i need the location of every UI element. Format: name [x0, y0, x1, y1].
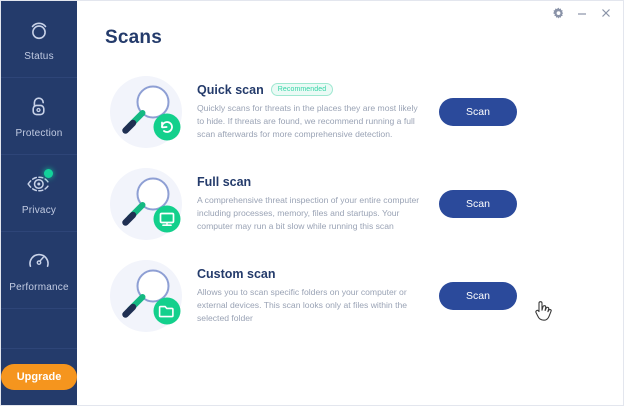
- scan-action-quick: Scan: [439, 98, 565, 126]
- scan-name-full: Full scan: [197, 175, 251, 189]
- scan-row-custom: Custom scan Allows you to scan specific …: [105, 250, 605, 342]
- sidebar-item-label-protection: Protection: [15, 128, 62, 139]
- status-badge-recommended: Recommended: [271, 83, 334, 96]
- sidebar-item-status[interactable]: Status: [1, 1, 77, 78]
- sidebar-item-label-privacy: Privacy: [22, 205, 56, 216]
- speedometer-icon: [25, 247, 53, 275]
- scan-list: Quick scan Recommended Quickly scans for…: [105, 66, 605, 342]
- sidebar-spacer: [1, 309, 77, 349]
- scan-text-full: Full scan A comprehensive threat inspect…: [197, 175, 439, 234]
- scan-text-quick: Quick scan Recommended Quickly scans for…: [197, 83, 439, 142]
- scan-button-full[interactable]: Scan: [439, 190, 517, 218]
- scan-row-full: Full scan A comprehensive threat inspect…: [105, 158, 605, 250]
- application-window: Status Protection: [0, 0, 624, 406]
- magnifier-folder-icon: [105, 253, 191, 339]
- sidebar-item-label-performance: Performance: [9, 282, 68, 293]
- magnifier-monitor-icon: [105, 161, 191, 247]
- sidebar: Status Protection: [1, 1, 77, 405]
- scan-head-custom: Custom scan: [197, 267, 425, 281]
- magnifier-refresh-icon: [105, 69, 191, 155]
- open-padlock-icon: [25, 93, 53, 121]
- main-content: Scans Quick scan: [77, 1, 623, 405]
- sidebar-item-label-status: Status: [24, 51, 54, 62]
- gear-icon[interactable]: [551, 6, 565, 20]
- upgrade-button[interactable]: Upgrade: [1, 364, 78, 390]
- window-controls: [551, 6, 613, 20]
- scan-name-custom: Custom scan: [197, 267, 276, 281]
- sidebar-item-protection[interactable]: Protection: [1, 78, 77, 155]
- sidebar-item-privacy[interactable]: Privacy: [1, 155, 77, 232]
- close-icon[interactable]: [599, 6, 613, 20]
- scan-button-custom[interactable]: Scan: [439, 282, 517, 310]
- scan-description-quick: Quickly scans for threats in the places …: [197, 102, 425, 142]
- scan-head-full: Full scan: [197, 175, 425, 189]
- scan-text-custom: Custom scan Allows you to scan specific …: [197, 267, 439, 326]
- scan-name-quick: Quick scan: [197, 83, 264, 97]
- status-ring-icon: [25, 16, 53, 44]
- upgrade-area: Upgrade: [1, 349, 77, 405]
- minimize-icon[interactable]: [575, 6, 589, 20]
- scan-button-quick[interactable]: Scan: [439, 98, 517, 126]
- scan-description-full: A comprehensive threat inspection of you…: [197, 194, 425, 234]
- scan-head-quick: Quick scan Recommended: [197, 83, 425, 97]
- scan-row-quick: Quick scan Recommended Quickly scans for…: [105, 66, 605, 158]
- scan-action-custom: Scan: [439, 282, 565, 310]
- scan-description-custom: Allows you to scan specific folders on y…: [197, 286, 425, 326]
- scan-action-full: Scan: [439, 190, 565, 218]
- eye-icon: [25, 170, 53, 198]
- sidebar-item-performance[interactable]: Performance: [1, 232, 77, 309]
- privacy-notification-dot: [44, 169, 53, 178]
- page-title: Scans: [105, 1, 605, 49]
